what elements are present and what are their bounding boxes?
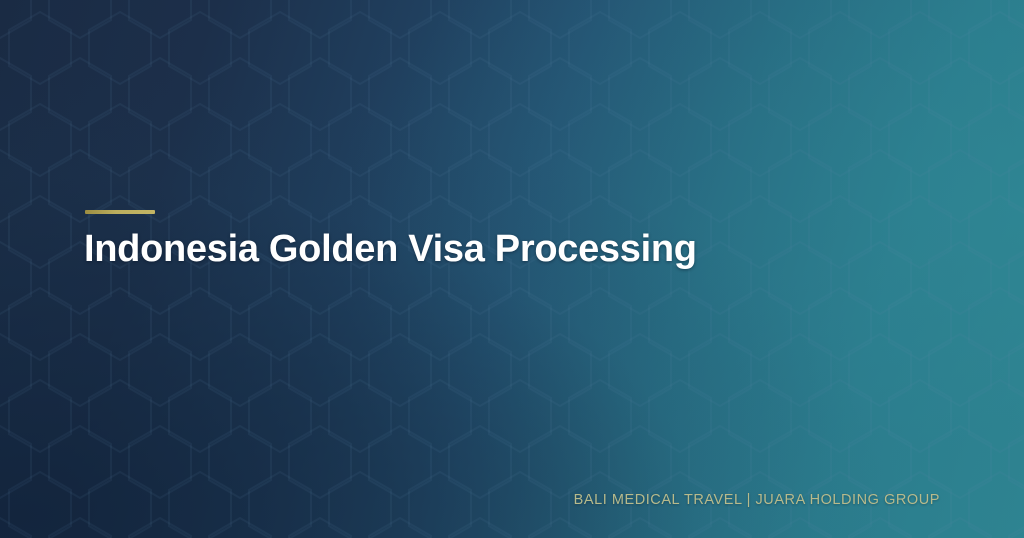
slide-content: Indonesia Golden Visa Processing BALI ME… — [0, 0, 1024, 538]
slide-footer-branding: BALI MEDICAL TRAVEL | JUARA HOLDING GROU… — [574, 492, 940, 508]
gold-accent-rule — [85, 210, 155, 214]
title-slide: Indonesia Golden Visa Processing BALI ME… — [0, 0, 1024, 538]
page-title: Indonesia Golden Visa Processing — [84, 228, 697, 271]
